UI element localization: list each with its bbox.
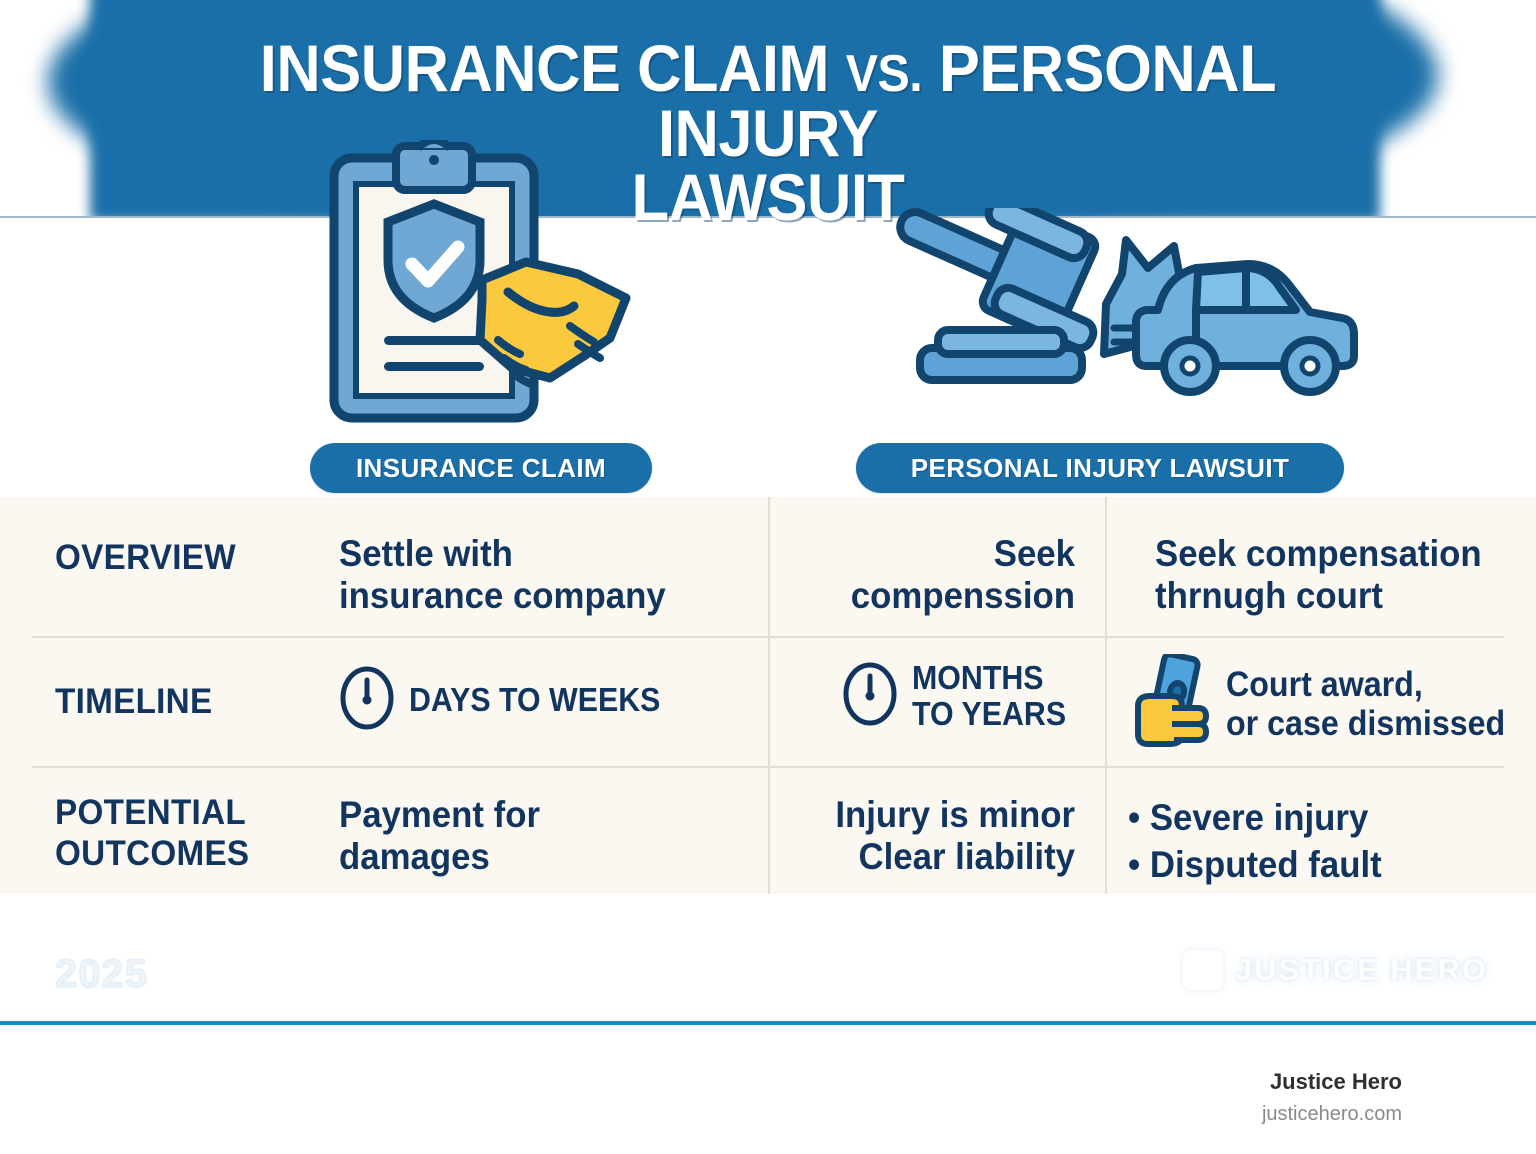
clipboard-shield-handshake-icon (322, 140, 662, 430)
cell-outcomes-claim: Payment for damages (339, 794, 715, 878)
brand-watermark-label: JUSTICE HERO (1235, 952, 1488, 988)
cell-outcomes-lawsuit-a: Injury is minor Clear liability (821, 794, 1075, 878)
cell-timeline-lawsuit-a-label: MONTHS TO YEARS (912, 660, 1066, 733)
row-label-timeline: TIMELINE (55, 681, 212, 722)
row-label-overview: OVERVIEW (55, 537, 236, 578)
cell-timeline-lawsuit-b: Court award, or case dismissed (1128, 654, 1530, 755)
cell-timeline-claim: DAYS TO WEEKS (339, 666, 682, 735)
list-item-label: Disputed fault (1150, 844, 1382, 885)
cell-overview-lawsuit-a: Seek compenssion (821, 533, 1075, 617)
cell-overview-claim: Settle with insurance company (339, 533, 715, 617)
list-item: • Disputed fault (1128, 841, 1382, 888)
table-row: POTENTIAL OUTCOMES Payment for damages I… (0, 768, 1536, 894)
pill-left-label: INSURANCE CLAIM (356, 453, 606, 484)
page-title-part-1: INSURANCE CLAIM (260, 31, 829, 105)
footer: Justice Hero justicehero.com (0, 1025, 1536, 1154)
clock-icon (339, 666, 395, 735)
clock-icon (842, 662, 898, 731)
brand-watermark: JUSTICE HERO (1183, 950, 1488, 990)
bullet-dot: • (1128, 844, 1150, 885)
row-label-outcomes: POTENTIAL OUTCOMES (55, 792, 249, 875)
justice-hero-logo-icon (1183, 950, 1223, 990)
cell-timeline-lawsuit-b-label: Court award, or case dismissed (1226, 666, 1505, 743)
table-row: OVERVIEW Settle with insurance company S… (0, 497, 1536, 638)
column-header-insurance-claim[interactable]: INSURANCE CLAIM (310, 443, 652, 493)
comparison-table: OVERVIEW Settle with insurance company S… (0, 497, 1536, 894)
gavel-car-crash-icon (890, 208, 1360, 408)
hand-holding-money-icon (1128, 654, 1212, 755)
page-title-part-3: LAWSUIT (632, 160, 905, 234)
page-title: INSURANCE CLAIM VS. PERSONAL INJURY LAWS… (54, 36, 1482, 230)
year-watermark: 2025 (55, 952, 148, 997)
cell-timeline-claim-label: DAYS TO WEEKS (409, 682, 660, 718)
cell-timeline-lawsuit-a: MONTHS TO YEARS (842, 660, 1080, 733)
footer-brand-name: Justice Hero (1270, 1069, 1402, 1095)
page-title-vs: VS. (846, 45, 923, 103)
footer-url[interactable]: justicehero.com (1262, 1103, 1402, 1126)
cell-overview-lawsuit-b: Seek compensation thrnugh court (1155, 533, 1531, 617)
list-item-label: Severe injury (1150, 797, 1368, 838)
pill-right-label: PERSONAL INJURY LAWSUIT (911, 453, 1290, 484)
column-header-personal-injury-lawsuit[interactable]: PERSONAL INJURY LAWSUIT (856, 443, 1344, 493)
bullet-dot: • (1128, 797, 1150, 838)
list-item: • Severe injury (1128, 794, 1382, 841)
table-row: TIMELINE DAYS TO WEEKS MONTHS TO YEARS (0, 638, 1536, 768)
cell-outcomes-lawsuit-bullets: • Severe injury • Disputed fault (1128, 794, 1382, 889)
